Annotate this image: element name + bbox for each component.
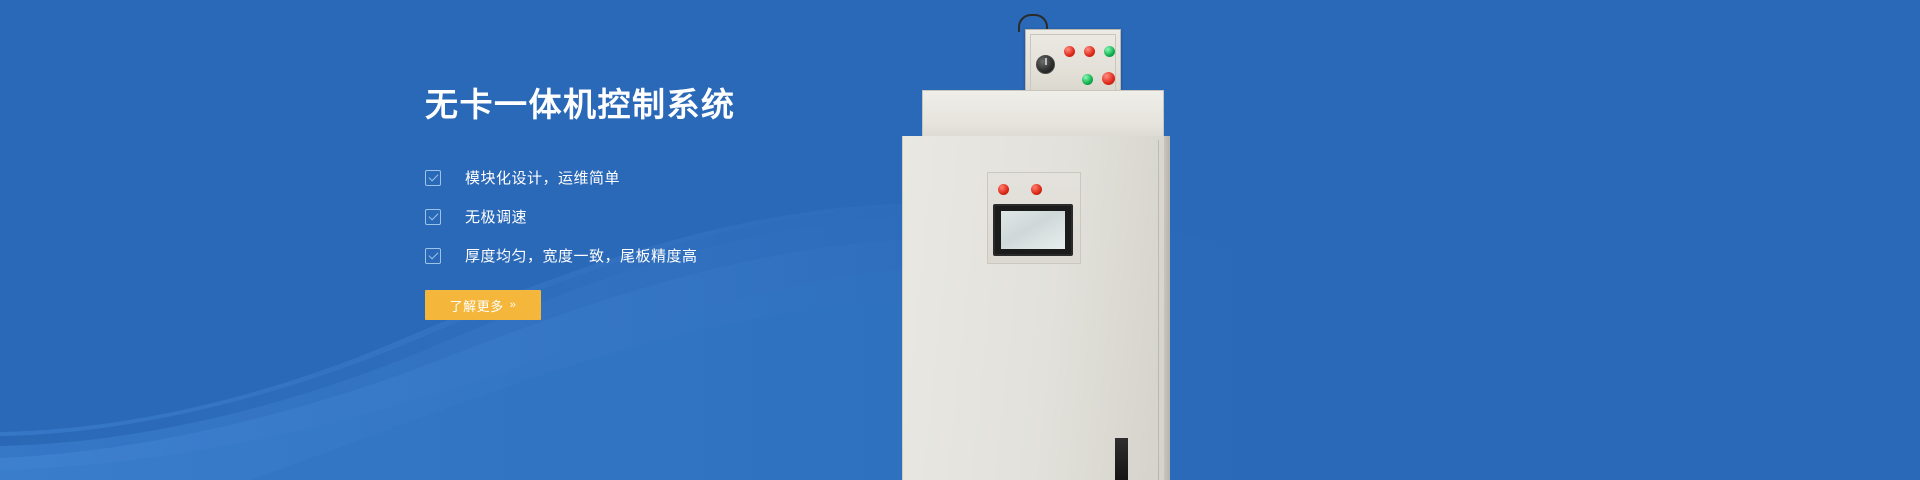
feature-label: 无极调速: [465, 210, 527, 225]
rotary-selector-knob-icon: [1036, 55, 1055, 74]
feature-item-2: 无极调速: [425, 206, 945, 228]
hmi-screen-glass: [1001, 211, 1065, 249]
panel-lamp-red-3: [1102, 72, 1115, 85]
panel-lamp-green-2: [1082, 74, 1093, 85]
checkbox-checked-icon: [425, 209, 441, 225]
indicator-lamp-red-left: [998, 184, 1009, 195]
hero-content: 无卡一体机控制系统 模块化设计，运维简单 无极调速 厚度均匀，宽度一致，尾板精度…: [425, 88, 945, 320]
feature-item-3: 厚度均匀，宽度一致，尾板精度高: [425, 245, 945, 267]
cabinet-top-slab: [922, 90, 1164, 138]
cabinet-vent-slot: [1115, 438, 1128, 480]
feature-list: 模块化设计，运维简单 无极调速 厚度均匀，宽度一致，尾板精度高: [425, 167, 945, 267]
hero-banner: 无卡一体机控制系统 模块化设计，运维简单 无极调速 厚度均匀，宽度一致，尾板精度…: [0, 0, 1920, 480]
cabinet-door-seam: [1158, 140, 1159, 480]
learn-more-button[interactable]: 了解更多 »: [425, 290, 541, 320]
cabinet-right-edge: [1164, 136, 1170, 480]
product-image: [900, 0, 1190, 480]
control-cabinet: [902, 136, 1170, 480]
hmi-touchscreen: [993, 204, 1073, 256]
checkbox-checked-icon: [425, 248, 441, 264]
feature-label: 厚度均匀，宽度一致，尾板精度高: [465, 249, 698, 264]
chevron-right-icon: »: [510, 299, 517, 311]
indicator-lamp-red-right: [1031, 184, 1042, 195]
feature-item-1: 模块化设计，运维简单: [425, 167, 945, 189]
checkbox-checked-icon: [425, 170, 441, 186]
panel-lamp-red-1: [1064, 46, 1075, 57]
panel-lamp-green-1: [1104, 46, 1115, 57]
feature-label: 模块化设计，运维简单: [465, 171, 620, 186]
page-title: 无卡一体机控制系统: [425, 88, 945, 121]
cta-wrapper: 了解更多 »: [425, 290, 945, 320]
learn-more-label: 了解更多: [450, 296, 504, 315]
panel-lamp-red-2: [1084, 46, 1095, 57]
